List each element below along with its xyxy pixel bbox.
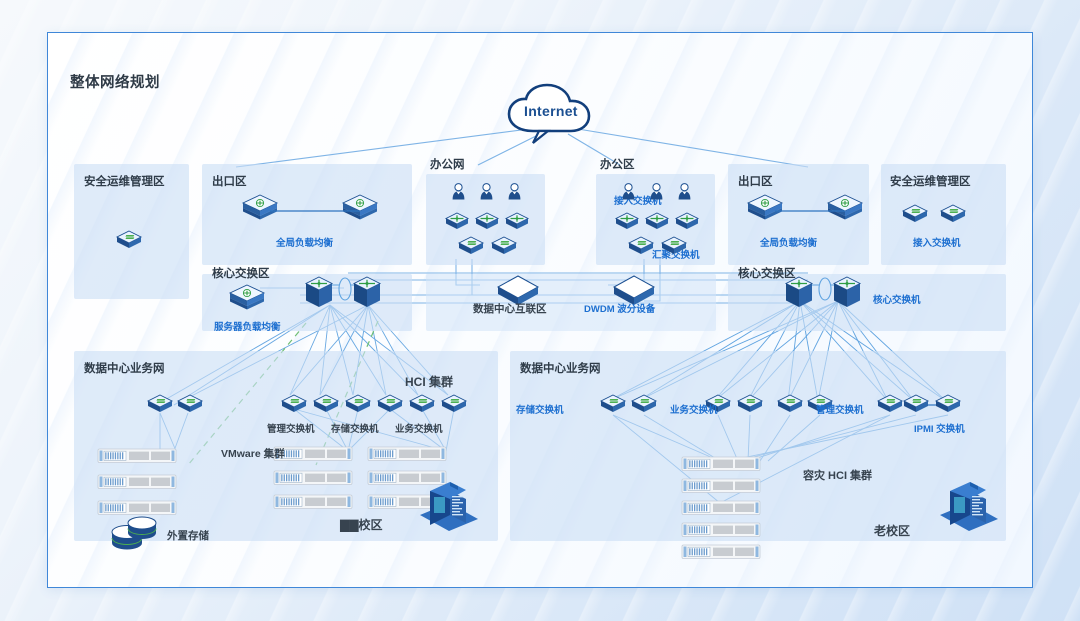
label-left-service-switch: 业务交换机 [395, 421, 443, 435]
label-external-storage: 外置存储 [167, 528, 209, 543]
zone-right-core-label: 核心交换区 [738, 265, 796, 281]
label-left-storage-switch: 存储交换机 [331, 421, 379, 435]
caption-right-glb: 全局负载均衡 [760, 235, 817, 249]
zone-office-area-label: 办公区 [600, 156, 635, 172]
label-right-service-switch: 业务交换机 [670, 402, 718, 416]
page-title: 整体网络规划 [70, 71, 160, 92]
label-left-mgmt-switch: 管理交换机 [267, 421, 315, 435]
zone-interconnect [426, 274, 716, 331]
label-left-campus: ▇▇校区 [340, 516, 382, 533]
label-right-mgmt-switch: 管理交换机 [816, 402, 864, 416]
label-dwdm: DWDM 波分设备 [584, 301, 655, 315]
zone-right-secops-label: 安全运维管理区 [890, 173, 971, 189]
zone-right-dc-label: 数据中心业务网 [520, 360, 601, 376]
caption-agg-switch: 汇聚交换机 [652, 247, 700, 261]
label-vmware-cluster: VMware 集群 [221, 446, 285, 461]
zone-office-net-label: 办公网 [430, 156, 465, 172]
caption-server-lb: 服务器负载均衡 [214, 319, 281, 333]
zone-left-dc-label: 数据中心业务网 [84, 360, 165, 376]
label-right-campus: 老校区 [874, 522, 910, 539]
label-dci: 数据中心互联区 [473, 301, 547, 316]
label-ipmi-switch: IPMI 交换机 [914, 421, 965, 435]
zone-office-net [426, 174, 545, 265]
internet-label: Internet [524, 103, 578, 119]
caption-core-switch: 核心交换机 [873, 292, 921, 306]
zone-left-secops-label: 安全运维管理区 [84, 173, 165, 189]
label-hci-cluster: HCI 集群 [405, 373, 453, 390]
zone-right-datacenter [510, 351, 1006, 541]
caption-right-access-switch: 接入交换机 [913, 235, 961, 249]
label-dr-hci-cluster: 容灾 HCI 集群 [803, 467, 872, 483]
caption-access-switch: 接入交换机 [614, 193, 662, 207]
zone-left-core-label: 核心交换区 [212, 265, 270, 281]
diagram-frame: 整体网络规划 [47, 32, 1033, 588]
zone-right-core [728, 274, 1006, 331]
label-right-storage-switch: 存储交换机 [516, 402, 564, 416]
zone-right-egress-label: 出口区 [738, 173, 773, 189]
server-rack-icon [682, 545, 760, 559]
caption-left-glb: 全局负载均衡 [276, 235, 333, 249]
zone-left-egress-label: 出口区 [212, 173, 247, 189]
